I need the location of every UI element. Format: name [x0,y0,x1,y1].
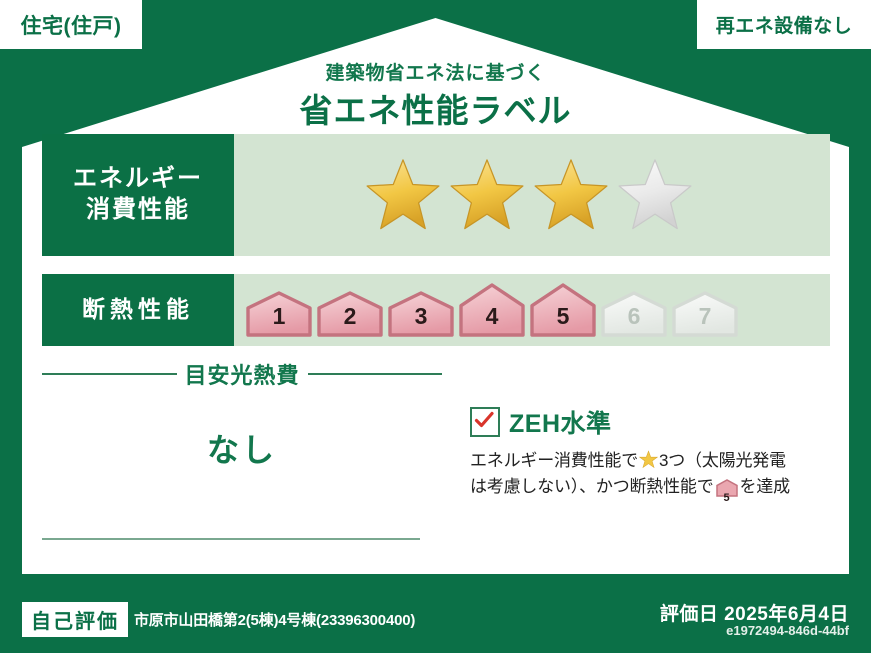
renewable-equipment-tag-text: 再エネ設備なし [716,11,853,38]
zeh-desc-stars: 3つ（太陽光発電 [659,451,786,470]
insulation-level-badge: 2 [317,291,383,337]
zeh-title: ZEH水準 [509,404,612,440]
zeh-heading-row: ZEH水準 [470,404,832,440]
house-shape-icon [459,283,525,337]
building-type-tag-text: 住宅(住戸) [21,10,122,40]
utility-cost-underline [42,538,420,540]
zeh-description: エネルギー消費性能で3つ（太陽光発電は考慮しない）、かつ断熱性能で5を達成 [470,448,832,504]
insulation-level-badge: 7 [672,291,738,337]
label-footer: 自己評価 市原市山田橋第2(5棟)4号棟(23396300400) 評価日 20… [0,590,871,653]
insulation-level-scale: 1234567 [246,283,738,337]
energy-performance-label-box: エネルギー 消費性能 [42,134,234,256]
utility-cost-heading-wrap: 目安光熱費 [42,358,442,390]
zeh-checkbox[interactable] [470,407,500,437]
energy-label-line2: 消費性能 [86,195,190,226]
insulation-level-badge: 1 [246,291,312,337]
renewable-equipment-tag: 再エネ設備なし [697,0,871,49]
house-shape-icon [246,291,312,337]
star-icon-filled [448,156,526,234]
label-subtitle: 建築物省エネ法に基づく [0,58,871,85]
label-title: 省エネ性能ラベル [0,84,871,132]
zeh-block: ZEH水準 エネルギー消費性能で3つ（太陽光発電は考慮しない）、かつ断熱性能で5… [470,404,832,504]
house-shape-icon [672,291,738,337]
star-icon-empty [616,156,694,234]
house-badge-icon-inline: 5 [716,479,738,505]
insulation-performance-label-box: 断熱性能 [42,274,234,346]
utility-cost-heading: 目安光熱費 [185,358,300,390]
energy-label-line1: エネルギー [73,164,203,195]
star-icon-filled [364,156,442,234]
heading-rule-left [42,373,177,375]
house-shape-icon [530,283,596,337]
house-shape-icon [601,291,667,337]
evaluation-date: 評価日 2025年6月4日 [660,599,849,626]
insulation-performance-row: 断熱性能 1234567 [42,274,830,346]
insulation-performance-value: 1234567 [234,274,830,346]
insulation-level-badge: 6 [601,291,667,337]
energy-performance-label: 住宅(住戸) 再エネ設備なし 建築物省エネ法に基づく 省エネ性能ラベル エネルギ… [0,0,871,653]
property-address: 市原市山田橋第2(5棟)4号棟(23396300400) [134,609,415,630]
self-evaluation-badge: 自己評価 [22,602,128,637]
utility-cost-value: なし [42,425,442,471]
energy-performance-row: エネルギー 消費性能 [42,134,830,256]
star-icon-filled [532,156,610,234]
insulation-label-text: 断熱性能 [82,295,194,324]
insulation-level-badge: 3 [388,291,454,337]
zeh-desc-part3: を達成 [740,477,790,496]
insulation-level-badge: 5 [530,283,596,337]
building-type-tag: 住宅(住戸) [0,0,142,49]
check-icon [474,410,494,430]
star-icon-inline [639,450,658,469]
zeh-desc-part1: エネルギー消費性能で [470,451,638,470]
house-shape-icon [317,291,383,337]
zeh-desc-part2: は考慮しない）、かつ断熱性能で [470,477,714,496]
star-rating [364,156,694,234]
document-id: e1972494-846d-44bf [726,623,849,638]
house-badge-number-inline: 5 [716,493,738,504]
house-shape-icon [388,291,454,337]
energy-performance-value [234,134,830,256]
heading-rule-right [308,373,443,375]
insulation-level-badge: 4 [459,283,525,337]
